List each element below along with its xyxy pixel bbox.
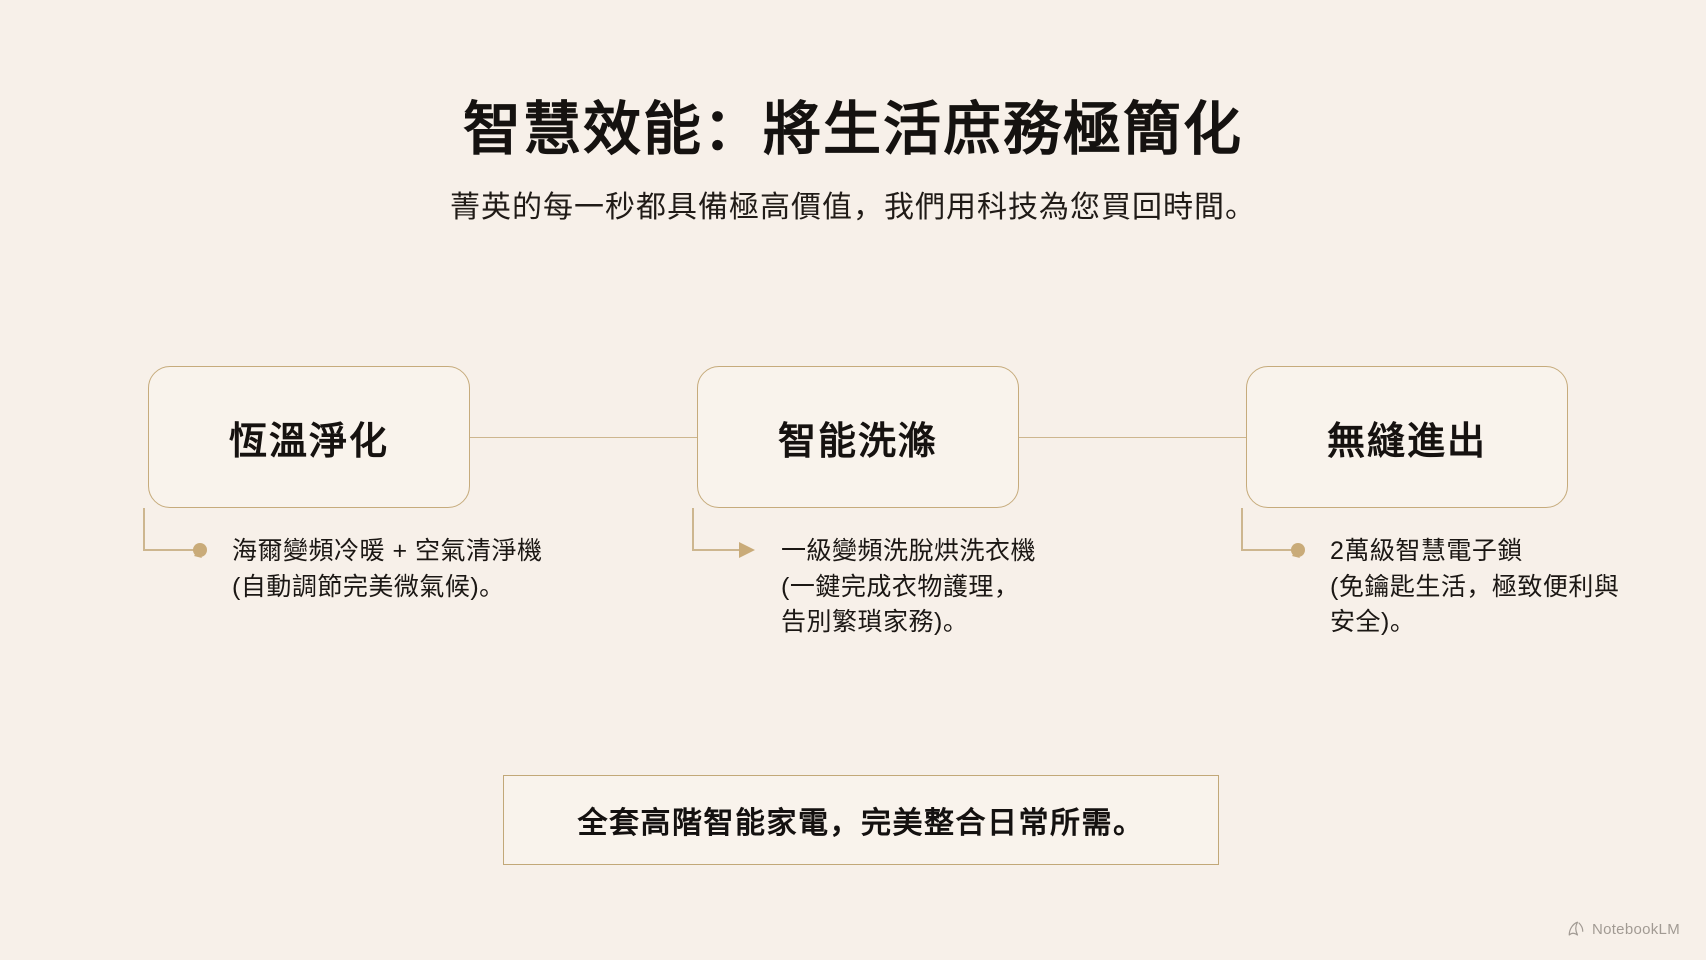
elbow-arrow-icon-3 <box>1230 508 1322 568</box>
desc-line: 2萬級智慧電子鎖 <box>1330 534 1706 570</box>
desc-line: 海爾變頻冷暖 + 空氣清淨機 <box>232 534 662 570</box>
watermark: NotebookLM <box>1567 920 1680 938</box>
slide-root: 智慧效能：將生活庶務極簡化 菁英的每一秒都具備極高價值，我們用科技為您買回時間。… <box>0 0 1706 960</box>
page-subtitle: 菁英的每一秒都具備極高價值，我們用科技為您買回時間。 <box>0 182 1706 226</box>
connector-line <box>470 437 697 438</box>
flow-diagram: 恆溫淨化 海爾變頻冷暖 + 空氣清淨機 (自動調節完美微氣候)。 智能洗滌 <box>148 366 1568 508</box>
summary-text: 全套高階智能家電，完美整合日常所需。 <box>578 798 1145 842</box>
flow-node-description-1: 海爾變頻冷暖 + 空氣清淨機 (自動調節完美微氣候)。 <box>232 534 662 605</box>
desc-line: 一級變頻洗脫烘洗衣機 <box>781 534 1211 570</box>
desc-line: (自動調節完美微氣候)。 <box>232 570 662 606</box>
elbow-arrow-icon-2 <box>681 508 773 568</box>
flow-node-2: 智能洗滌 一級變頻洗脫烘洗衣機 (一鍵完成衣物護理， 告別繁瑣家務)。 <box>697 366 1019 508</box>
summary-box: 全套高階智能家電，完美整合日常所需。 <box>503 775 1219 865</box>
flow-connector-2-3 <box>1019 366 1246 508</box>
flow-node-box-3[interactable]: 無縫進出 <box>1246 366 1568 508</box>
flow-node-1: 恆溫淨化 海爾變頻冷暖 + 空氣清淨機 (自動調節完美微氣候)。 <box>148 366 470 508</box>
flow-connector-1-2 <box>470 366 697 508</box>
flow-node-label-2: 智能洗滌 <box>778 410 938 465</box>
flow-node-box-1[interactable]: 恆溫淨化 <box>148 366 470 508</box>
desc-line: (免鑰匙生活，極致便利與 <box>1330 570 1706 606</box>
desc-line: 告別繁瑣家務)。 <box>781 605 1211 641</box>
flow-node-box-2[interactable]: 智能洗滌 <box>697 366 1019 508</box>
page-title: 智慧效能：將生活庶務極簡化 <box>0 96 1706 164</box>
flow-node-description-2: 一級變頻洗脫烘洗衣機 (一鍵完成衣物護理， 告別繁瑣家務)。 <box>781 534 1211 641</box>
desc-line: 安全)。 <box>1330 605 1706 641</box>
slide-header: 智慧效能：將生活庶務極簡化 菁英的每一秒都具備極高價值，我們用科技為您買回時間。 <box>0 96 1706 226</box>
flow-node-description-3: 2萬級智慧電子鎖 (免鑰匙生活，極致便利與 安全)。 <box>1330 534 1706 641</box>
elbow-arrow-icon-1 <box>132 508 224 568</box>
connector-line <box>1019 437 1246 438</box>
flow-node-label-1: 恆溫淨化 <box>229 410 389 465</box>
desc-line: (一鍵完成衣物護理， <box>781 570 1211 606</box>
flow-node-label-3: 無縫進出 <box>1327 410 1487 465</box>
notebooklm-logo-icon <box>1567 920 1585 938</box>
flow-node-3: 無縫進出 2萬級智慧電子鎖 (免鑰匙生活，極致便利與 安全)。 <box>1246 366 1568 508</box>
watermark-label: NotebookLM <box>1592 921 1680 938</box>
